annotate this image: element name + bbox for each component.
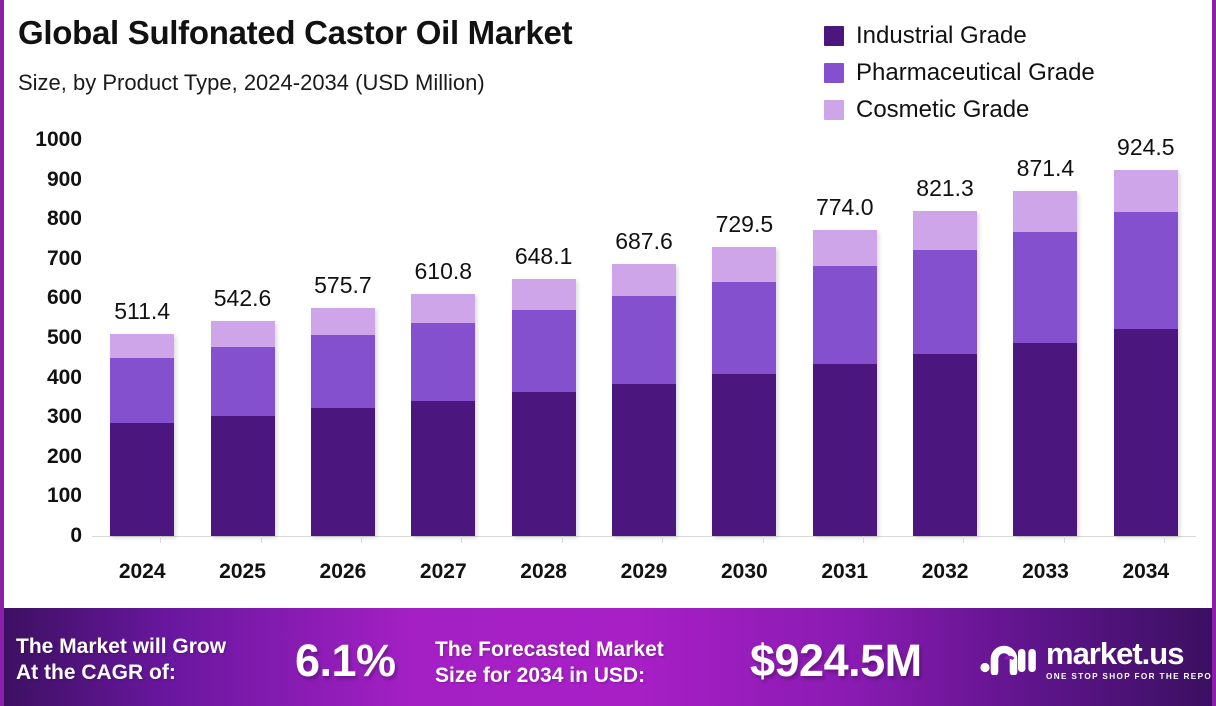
- bar-total-label: 871.4: [1017, 155, 1075, 182]
- page-subtitle: Size, by Product Type, 2024-2034 (USD Mi…: [18, 70, 485, 96]
- legend-item-label: Cosmetic Grade: [856, 96, 1029, 124]
- logo-wordmark: market.us ONE STOP SHOP FOR THE REPORTS: [1046, 638, 1216, 681]
- y-axis-tick-label: 800: [47, 207, 82, 231]
- legend-item-label: Pharmaceutical Grade: [856, 59, 1095, 87]
- bar-group[interactable]: 610.8: [411, 294, 475, 536]
- bar-group[interactable]: 821.3: [913, 211, 977, 536]
- bar-segment[interactable]: [1114, 212, 1178, 330]
- bar-group[interactable]: 648.1: [512, 279, 576, 536]
- bar-stack[interactable]: [211, 321, 275, 536]
- legend-swatch-icon: [824, 63, 844, 83]
- cagr-label: The Market will Grow At the CAGR of:: [16, 634, 226, 685]
- y-axis-tick-label: 600: [47, 286, 82, 310]
- y-axis-tick-label: 400: [47, 366, 82, 390]
- x-axis-tick-mark: [763, 536, 764, 543]
- logo-name: market.us: [1046, 638, 1216, 669]
- bar-segment[interactable]: [813, 364, 877, 536]
- bar-group[interactable]: 511.4: [110, 334, 174, 537]
- x-axis-tick-label: 2025: [219, 560, 266, 584]
- chart-legend: Industrial GradePharmaceutical GradeCosm…: [824, 22, 1095, 124]
- x-axis-tick-mark: [863, 536, 864, 543]
- bar-group[interactable]: 924.5: [1114, 170, 1178, 536]
- bar-group[interactable]: 729.5: [712, 247, 776, 536]
- bar-total-label: 610.8: [414, 258, 472, 285]
- x-axis-tick-label: 2024: [119, 560, 166, 584]
- footer-banner: The Market will Grow At the CAGR of: 6.1…: [0, 608, 1216, 706]
- bar-segment[interactable]: [712, 247, 776, 282]
- bar-group[interactable]: 687.6: [612, 264, 676, 536]
- forecast-value: $924.5M: [750, 635, 922, 687]
- x-axis-tick-mark: [361, 536, 362, 543]
- x-axis-tick-label: 2030: [721, 560, 768, 584]
- bar-segment[interactable]: [612, 384, 676, 536]
- x-axis-tick-label: 2032: [922, 560, 969, 584]
- legend-swatch-icon: [824, 100, 844, 120]
- x-axis-tick-mark: [261, 536, 262, 543]
- bar-segment[interactable]: [612, 296, 676, 383]
- y-axis-tick-label: 0: [70, 524, 82, 548]
- x-axis-tick-mark: [1164, 536, 1165, 543]
- page-title: Global Sulfonated Castor Oil Market: [18, 14, 572, 52]
- bar-segment[interactable]: [913, 250, 977, 354]
- bar-segment[interactable]: [110, 423, 174, 536]
- bar-stack[interactable]: [1114, 170, 1178, 536]
- plot-area: 511.42024542.62025575.72026610.82027648.…: [92, 140, 1196, 600]
- bar-stack[interactable]: [612, 264, 676, 536]
- bar-segment[interactable]: [411, 323, 475, 400]
- bar-segment[interactable]: [1013, 191, 1077, 232]
- bar-segment[interactable]: [813, 266, 877, 364]
- bar-group[interactable]: 774.0: [813, 230, 877, 536]
- y-axis-tick-label: 300: [47, 405, 82, 429]
- forecast-label: The Forecasted Market Size for 2034 in U…: [435, 637, 664, 688]
- bar-segment[interactable]: [1114, 170, 1178, 212]
- x-axis-tick-mark: [160, 536, 161, 543]
- axis-baseline: [92, 536, 1196, 537]
- bar-total-label: 924.5: [1117, 134, 1175, 161]
- bar-total-label: 821.3: [916, 175, 974, 202]
- bar-segment[interactable]: [512, 392, 576, 536]
- infographic-page: Global Sulfonated Castor Oil Market Size…: [0, 0, 1216, 706]
- x-axis-tick-label: 2034: [1122, 560, 1169, 584]
- bar-stack[interactable]: [110, 334, 174, 537]
- legend-item[interactable]: Industrial Grade: [824, 22, 1095, 50]
- bar-segment[interactable]: [913, 354, 977, 536]
- y-axis-tick-label: 100: [47, 484, 82, 508]
- bar-segment[interactable]: [311, 408, 375, 536]
- logo-tagline: ONE STOP SHOP FOR THE REPORTS: [1046, 672, 1216, 681]
- bar-segment[interactable]: [411, 401, 475, 536]
- y-axis-tick-label: 500: [47, 326, 82, 350]
- x-axis-tick-label: 2028: [520, 560, 567, 584]
- bar-stack[interactable]: [311, 308, 375, 536]
- bar-segment[interactable]: [211, 347, 275, 416]
- legend-item[interactable]: Pharmaceutical Grade: [824, 59, 1095, 87]
- bar-segment[interactable]: [1013, 343, 1077, 536]
- bar-segment[interactable]: [813, 230, 877, 267]
- x-axis-tick-mark: [1064, 536, 1065, 543]
- bar-segment[interactable]: [612, 264, 676, 297]
- legend-swatch-icon: [824, 26, 844, 46]
- bar-segment[interactable]: [1013, 232, 1077, 342]
- bar-stack[interactable]: [411, 294, 475, 536]
- bar-segment[interactable]: [211, 416, 275, 536]
- x-axis-tick-label: 2031: [821, 560, 868, 584]
- bar-total-label: 511.4: [114, 298, 170, 325]
- bar-total-label: 687.6: [615, 228, 673, 255]
- legend-item-label: Industrial Grade: [856, 22, 1027, 50]
- bar-stack[interactable]: [512, 279, 576, 536]
- bar-segment[interactable]: [211, 321, 275, 347]
- bar-segment[interactable]: [110, 358, 174, 423]
- x-axis-tick-mark: [662, 536, 663, 543]
- y-axis-tick-label: 200: [47, 445, 82, 469]
- y-axis: 10009008007006005004003002001000: [4, 140, 92, 600]
- bar-segment[interactable]: [512, 279, 576, 310]
- cagr-value: 6.1%: [295, 635, 396, 687]
- bar-group[interactable]: 542.6: [211, 321, 275, 536]
- bar-total-label: 729.5: [716, 211, 774, 238]
- x-axis-tick-mark: [461, 536, 462, 543]
- bar-total-label: 648.1: [515, 243, 573, 270]
- bar-segment[interactable]: [913, 211, 977, 250]
- bar-segment[interactable]: [712, 282, 776, 374]
- x-axis-tick-label: 2026: [320, 560, 367, 584]
- bar-group[interactable]: 871.4: [1013, 191, 1077, 536]
- bar-stack[interactable]: [1013, 191, 1077, 536]
- y-axis-tick-label: 700: [47, 247, 82, 271]
- bar-group[interactable]: 575.7: [311, 308, 375, 536]
- x-axis-tick-label: 2027: [420, 560, 467, 584]
- x-axis-tick-label: 2029: [621, 560, 668, 584]
- x-axis-tick-mark: [562, 536, 563, 543]
- bar-segment[interactable]: [311, 308, 375, 335]
- bar-segment[interactable]: [1114, 329, 1178, 536]
- bar-stack[interactable]: [913, 211, 977, 536]
- y-axis-tick-label: 900: [47, 168, 82, 192]
- bar-segment[interactable]: [411, 294, 475, 323]
- bar-segment[interactable]: [712, 374, 776, 536]
- market-us-logo: market.us ONE STOP SHOP FOR THE REPORTS: [980, 638, 1216, 681]
- bar-segment[interactable]: [512, 310, 576, 392]
- y-axis-tick-label: 1000: [35, 128, 82, 152]
- logo-mark-icon: [980, 639, 1036, 680]
- bar-total-label: 542.6: [214, 285, 272, 312]
- bar-total-label: 774.0: [816, 194, 874, 221]
- bar-segment[interactable]: [311, 335, 375, 408]
- x-axis-tick-label: 2033: [1022, 560, 1069, 584]
- bar-segment[interactable]: [110, 334, 174, 358]
- bar-total-label: 575.7: [314, 272, 372, 299]
- legend-item[interactable]: Cosmetic Grade: [824, 96, 1095, 124]
- x-axis-tick-mark: [963, 536, 964, 543]
- bar-stack[interactable]: [813, 230, 877, 536]
- stacked-bar-chart: 10009008007006005004003002001000 511.420…: [4, 140, 1212, 600]
- bar-stack[interactable]: [712, 247, 776, 536]
